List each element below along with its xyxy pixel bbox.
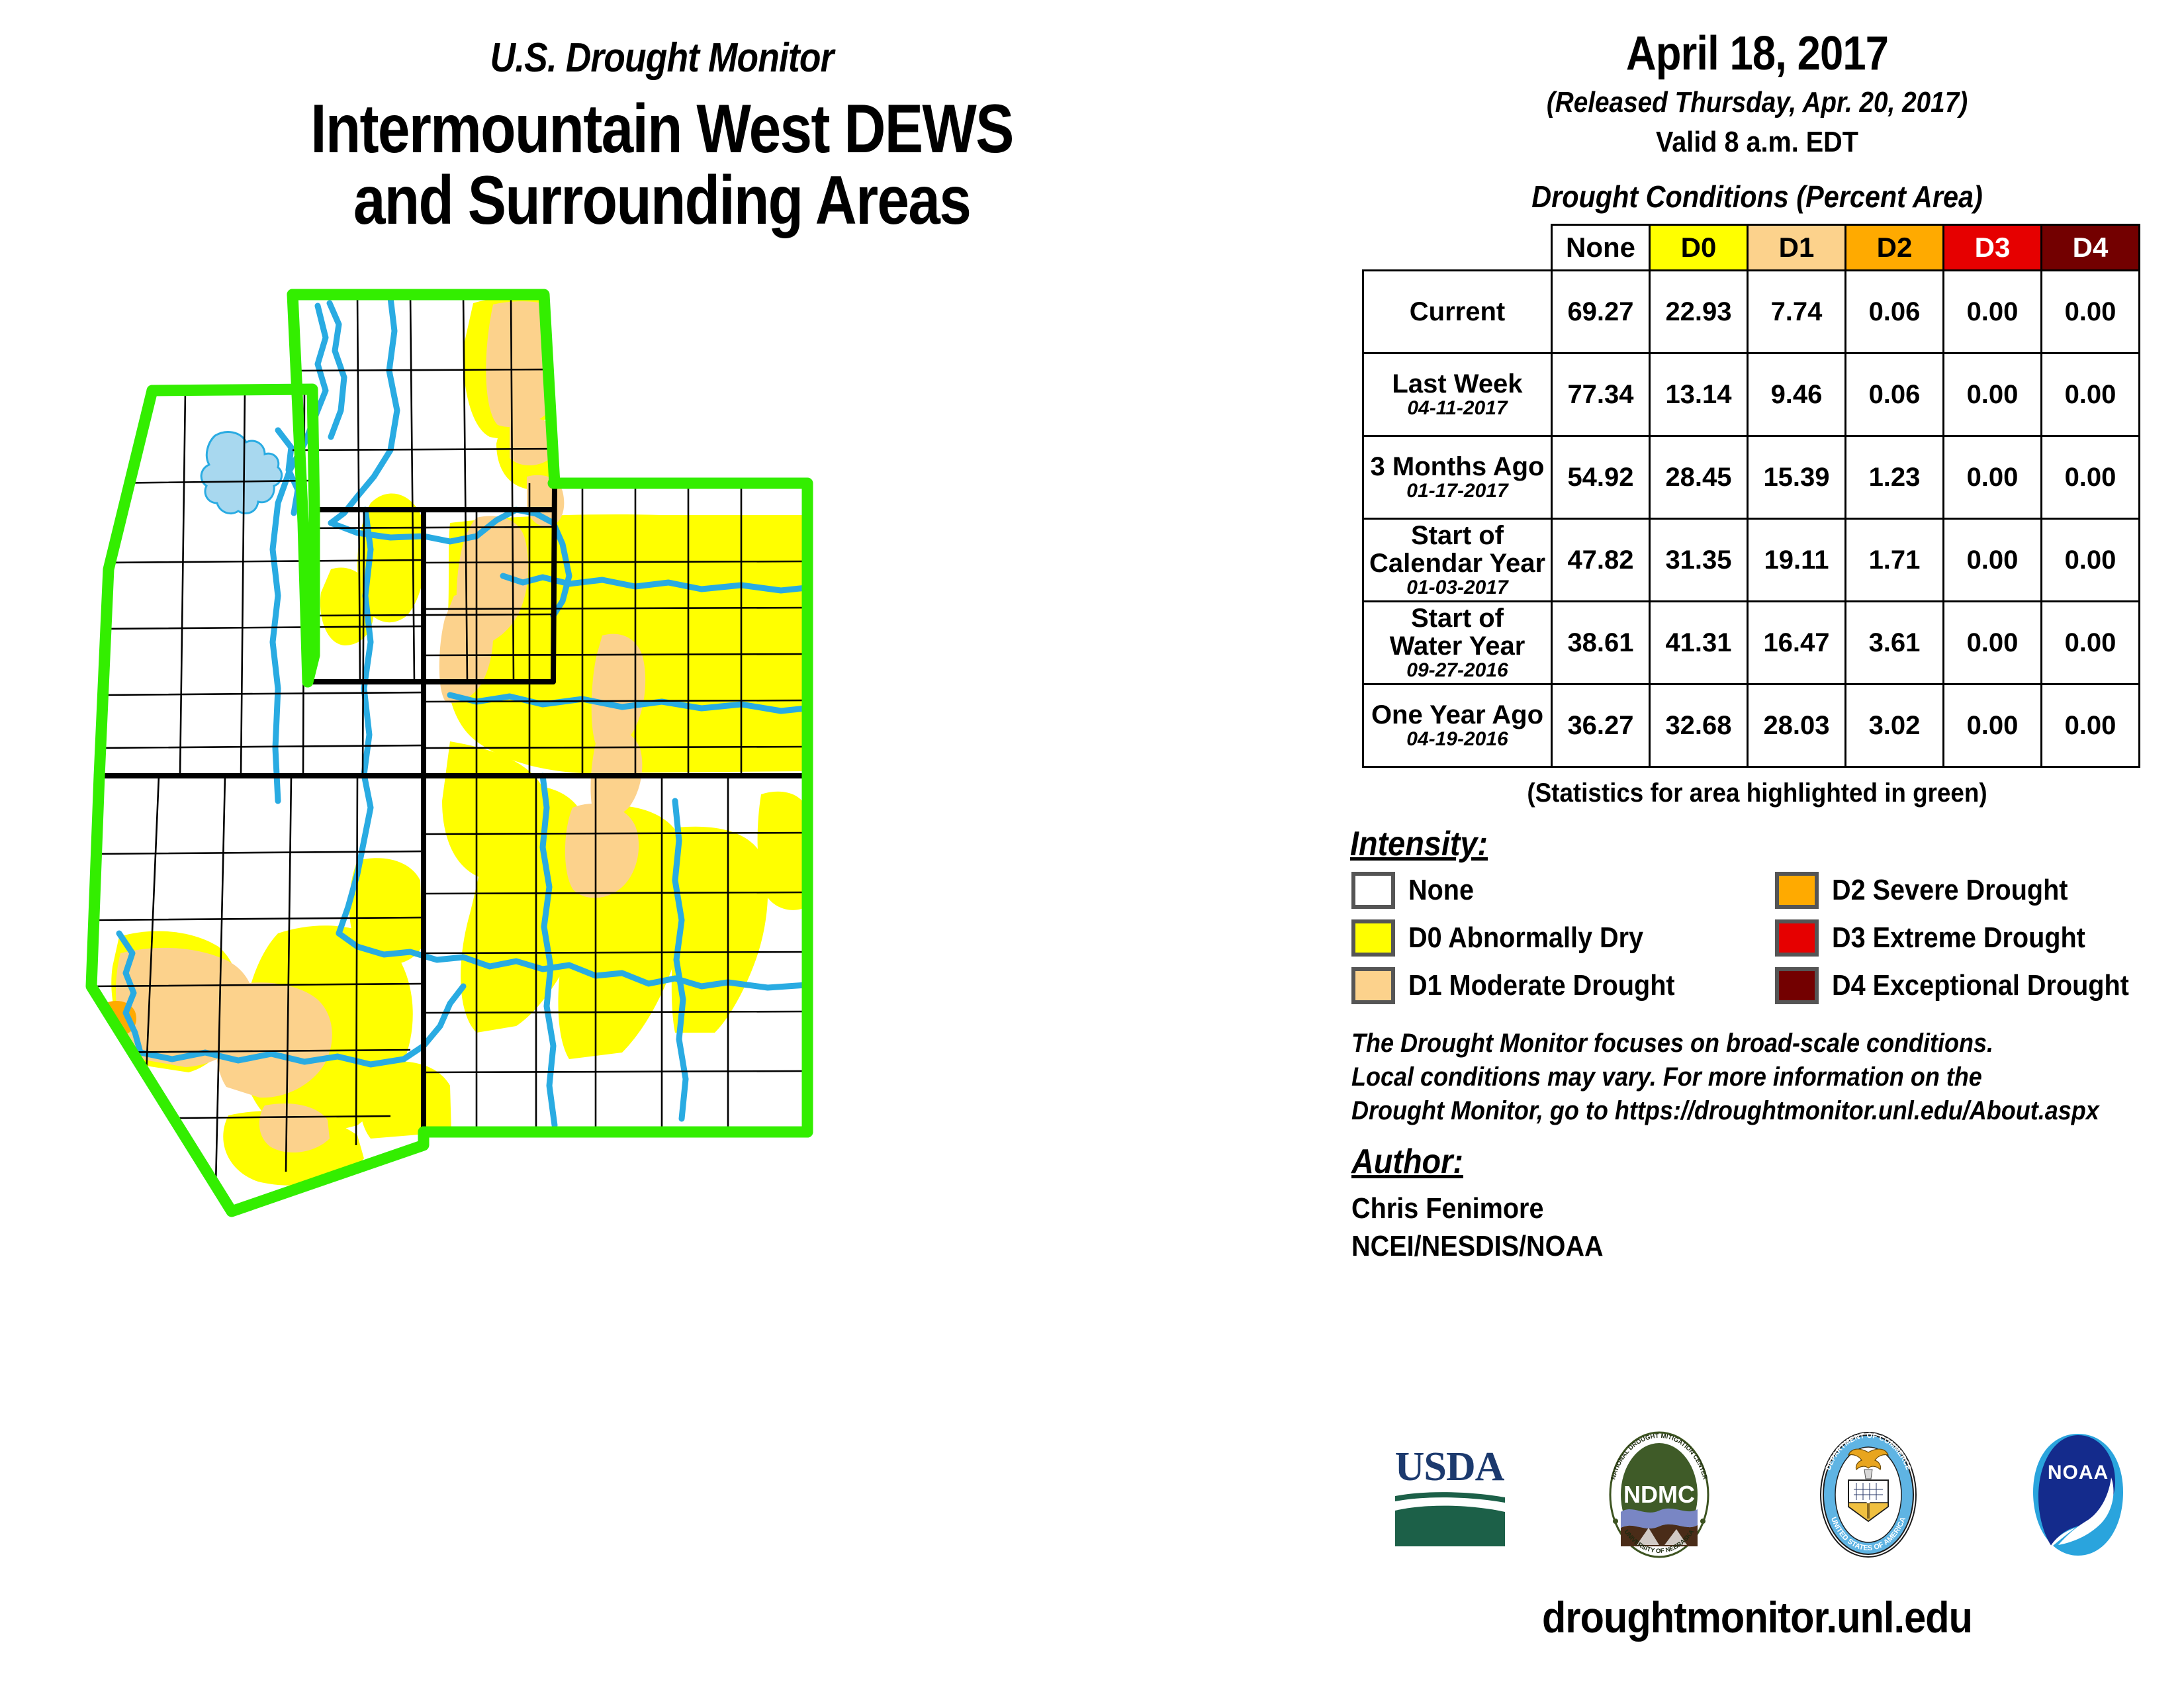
disclaimer-line-3: Drought Monitor, go to https://droughtmo… [1351, 1094, 2089, 1128]
legend-label: D3 Extreme Drought [1832, 921, 2085, 955]
cell-d2: 3.02 [1846, 684, 1944, 767]
cell-d2: 1.71 [1846, 519, 1944, 602]
row-label-date: 04-19-2016 [1364, 729, 1551, 750]
row-label-date: 04-11-2017 [1364, 398, 1551, 419]
row-label-text: Last Week [1392, 369, 1522, 399]
table-row: 3 Months Ago01-17-201754.9228.4515.391.2… [1363, 436, 2140, 519]
cell-d1: 7.74 [1748, 271, 1846, 353]
title-main: Intermountain West DEWS and Surrounding … [106, 93, 1218, 236]
title-superline: U.S. Drought Monitor [93, 34, 1231, 81]
commerce-logo: DEPARTMENT OF COMMERCE UNITED STATES OF … [1802, 1429, 1934, 1561]
cell-none: 47.82 [1552, 519, 1650, 602]
row-label-text: Current [1410, 297, 1505, 326]
legend-label: D0 Abnormally Dry [1408, 921, 1643, 955]
row-label-date: 09-27-2016 [1364, 660, 1551, 681]
cell-d3: 0.00 [1944, 519, 2042, 602]
legend-item: D2 Severe Drought [1775, 872, 2184, 909]
cell-d0: 22.93 [1650, 271, 1748, 353]
disclaimer-line-2: Local conditions may vary. For more info… [1351, 1060, 2089, 1094]
row-label: One Year Ago04-19-2016 [1363, 684, 1552, 767]
cell-d4: 0.00 [2042, 519, 2140, 602]
column-header-d2: D2 [1846, 225, 1944, 271]
legend-label: D1 Moderate Drought [1408, 969, 1675, 1002]
ndmc-logo: NDMC NATIONAL DROUGHT MITIGATION CENTER … [1593, 1429, 1725, 1561]
row-label: 3 Months Ago01-17-2017 [1363, 436, 1552, 519]
website-url[interactable]: droughtmonitor.unl.edu [1385, 1592, 2130, 1642]
cell-none: 54.92 [1552, 436, 1650, 519]
table-caption: Drought Conditions (Percent Area) [1385, 179, 2130, 214]
header-spacer [1363, 225, 1552, 271]
svg-text:USDA: USDA [1395, 1444, 1505, 1489]
column-header-d3: D3 [1944, 225, 2042, 271]
row-label: Last Week04-11-2017 [1363, 353, 1552, 436]
table-header-row: None D0 D1 D2 D3 D4 [1363, 225, 2140, 271]
cell-none: 69.27 [1552, 271, 1650, 353]
noaa-logo: NOAA [2012, 1429, 2144, 1561]
cell-d2: 1.23 [1846, 436, 1944, 519]
cell-d4: 0.00 [2042, 684, 2140, 767]
cell-d3: 0.00 [1944, 684, 2042, 767]
author-affiliation: NCEI/NESDIS/NOAA [1351, 1227, 2089, 1265]
intensity-heading: Intensity: [1350, 824, 1488, 864]
legend-swatch [1775, 872, 1819, 909]
map-date: April 18, 2017 [1393, 26, 2121, 81]
cell-d1: 9.46 [1748, 353, 1846, 436]
legend-swatch [1775, 919, 1819, 957]
row-label-date: 01-17-2017 [1364, 481, 1551, 502]
cell-d3: 0.00 [1944, 271, 2042, 353]
cell-d0: 31.35 [1650, 519, 1748, 602]
row-label-text: One Year Ago [1371, 700, 1543, 729]
cell-d4: 0.00 [2042, 436, 2140, 519]
cell-d2: 0.06 [1846, 271, 1944, 353]
cell-d1: 15.39 [1748, 436, 1846, 519]
title-line-2: and Surrounding Areas [106, 165, 1218, 236]
cell-d1: 16.47 [1748, 602, 1846, 684]
disclaimer-line-1: The Drought Monitor focuses on broad-sca… [1351, 1027, 2089, 1060]
row-label-text: Start ofCalendar Year [1369, 521, 1545, 578]
date-header: April 18, 2017 (Released Thursday, Apr. … [1343, 26, 2171, 159]
legend-item: D0 Abnormally Dry [1351, 919, 1775, 957]
disclaimer-text: The Drought Monitor focuses on broad-sca… [1351, 1027, 2089, 1129]
legend-label: D2 Severe Drought [1832, 874, 2068, 907]
table-row: Last Week04-11-201777.3413.149.460.060.0… [1363, 353, 2140, 436]
table-row: Start ofCalendar Year01-03-201747.8231.3… [1363, 519, 2140, 602]
legend-label: None [1408, 874, 1474, 907]
agency-logos: USDA NDMC NATIONAL DROUGHT MITIGATION CE… [1383, 1423, 2144, 1566]
valid-time: Valid 8 a.m. EDT [1385, 126, 2130, 159]
cell-d3: 0.00 [1944, 602, 2042, 684]
drought-map[interactable] [79, 285, 1310, 1542]
cell-none: 38.61 [1552, 602, 1650, 684]
cell-none: 36.27 [1552, 684, 1650, 767]
author-info: Chris Fenimore NCEI/NESDIS/NOAA [1351, 1190, 2089, 1265]
row-label-date: 01-03-2017 [1364, 577, 1551, 598]
row-label-text: Start ofWater Year [1390, 604, 1525, 661]
intensity-legend: NoneD2 Severe DroughtD0 Abnormally DryD3… [1351, 872, 2171, 1004]
table-row: One Year Ago04-19-201636.2732.6828.033.0… [1363, 684, 2140, 767]
row-label: Current [1363, 271, 1552, 353]
cell-d0: 41.31 [1650, 602, 1748, 684]
row-label: Start ofWater Year09-27-2016 [1363, 602, 1552, 684]
legend-swatch [1775, 967, 1819, 1004]
cell-d4: 0.00 [2042, 602, 2140, 684]
legend-item: D3 Extreme Drought [1775, 919, 2184, 957]
row-label: Start ofCalendar Year01-03-2017 [1363, 519, 1552, 602]
table-row: Current69.2722.937.740.060.000.00 [1363, 271, 2140, 353]
column-header-none: None [1552, 225, 1650, 271]
table-note: (Statistics for area highlighted in gree… [1377, 778, 2138, 808]
cell-d1: 19.11 [1748, 519, 1846, 602]
cell-d3: 0.00 [1944, 353, 2042, 436]
cell-d2: 0.06 [1846, 353, 1944, 436]
cell-none: 77.34 [1552, 353, 1650, 436]
svg-text:NOAA: NOAA [2048, 1462, 2109, 1483]
table-row: Start ofWater Year09-27-201638.6141.3116… [1363, 602, 2140, 684]
legend-swatch [1351, 967, 1395, 1004]
release-date: (Released Thursday, Apr. 20, 2017) [1393, 86, 2121, 119]
cell-d4: 0.00 [2042, 353, 2140, 436]
author-name: Chris Fenimore [1351, 1190, 2089, 1227]
cell-d2: 3.61 [1846, 602, 1944, 684]
title-line-1: Intermountain West DEWS [106, 93, 1218, 165]
cell-d4: 0.00 [2042, 271, 2140, 353]
drought-conditions-table: None D0 D1 D2 D3 D4 Current69.2722.937.7… [1362, 224, 2140, 768]
cell-d0: 13.14 [1650, 353, 1748, 436]
usda-logo: USDA [1383, 1429, 1516, 1561]
legend-swatch [1351, 872, 1395, 909]
legend-item: None [1351, 872, 1775, 909]
legend-label: D4 Exceptional Drought [1832, 969, 2129, 1002]
column-header-d1: D1 [1748, 225, 1846, 271]
page-title: U.S. Drought Monitor Intermountain West … [0, 34, 1324, 236]
column-header-d4: D4 [2042, 225, 2140, 271]
column-header-d0: D0 [1650, 225, 1748, 271]
svg-text:NDMC: NDMC [1623, 1481, 1695, 1508]
author-heading: Author: [1351, 1142, 1463, 1182]
row-label-text: 3 Months Ago [1371, 452, 1545, 481]
cell-d1: 28.03 [1748, 684, 1846, 767]
cell-d0: 32.68 [1650, 684, 1748, 767]
legend-swatch [1351, 919, 1395, 957]
legend-item: D4 Exceptional Drought [1775, 967, 2184, 1004]
cell-d0: 28.45 [1650, 436, 1748, 519]
legend-item: D1 Moderate Drought [1351, 967, 1775, 1004]
cell-d3: 0.00 [1944, 436, 2042, 519]
